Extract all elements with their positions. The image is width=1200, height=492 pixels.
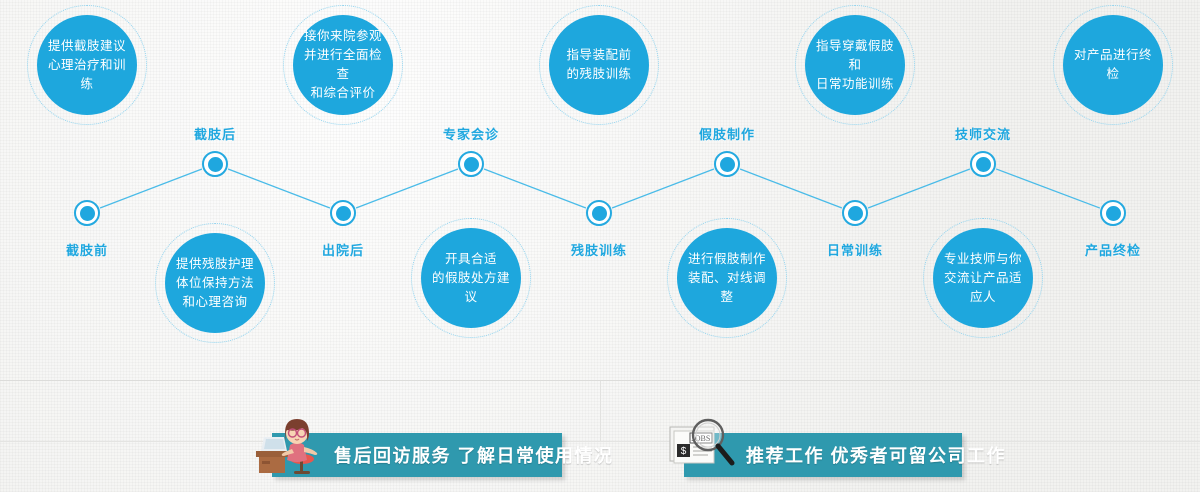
footer-banner-text: 售后回访服务 了解日常使用情况: [334, 442, 614, 468]
flow-node-3[interactable]: [330, 200, 356, 226]
flow-node-label: 专家会诊: [443, 124, 499, 143]
flow-node-1[interactable]: [74, 200, 100, 226]
info-bubble-line: 体位保持方法: [176, 274, 254, 293]
info-bubble-line: 的残肢训练: [566, 65, 631, 84]
flow-node-8[interactable]: [970, 151, 996, 177]
info-bubble-line: 提供截肢建议: [43, 37, 131, 56]
flow-node-label: 技师交流: [955, 124, 1011, 143]
info-bubble-line: 和综合评价: [299, 84, 387, 103]
info-bubble-line: 进行假肢制作: [683, 250, 771, 269]
process-flow-diagram: 提供截肢建议心理治疗和训练提供残肢护理体位保持方法和心理咨询接你来院参观并进行全…: [0, 0, 1200, 380]
flow-node-label: 产品终检: [1085, 240, 1141, 259]
info-bubble-line: 日常功能训练: [811, 75, 899, 94]
footer-banner-text: 推荐工作 优秀者可留公司工作: [746, 442, 1006, 468]
info-bubble-4[interactable]: 开具合适的假肢处方建议: [411, 218, 531, 338]
connector-line: [612, 169, 714, 208]
info-bubble-text: 对产品进行终检: [1063, 15, 1163, 115]
info-bubble-line: 开具合适: [427, 250, 515, 269]
svg-text:$: $: [681, 446, 687, 457]
info-bubble-text: 提供残肢护理体位保持方法和心理咨询: [165, 233, 265, 333]
info-bubble-3[interactable]: 接你来院参观并进行全面检查和综合评价: [283, 5, 403, 125]
footer-banner-2[interactable]: JOBS $ 推荐工作 优秀者可留公司工作: [684, 433, 962, 477]
info-bubble-text: 接你来院参观并进行全面检查和综合评价: [293, 15, 393, 115]
flow-node-label: 截肢前: [66, 240, 108, 259]
info-bubble-text: 提供截肢建议心理治疗和训练: [37, 15, 137, 115]
woman-at-desk-icon: [254, 411, 328, 477]
flow-node-9[interactable]: [1100, 200, 1126, 226]
connector-line: [484, 169, 586, 208]
flow-node-label: 假肢制作: [699, 124, 755, 143]
flow-node-label: 截肢后: [194, 124, 236, 143]
info-bubble-1[interactable]: 提供截肢建议心理治疗和训练: [27, 5, 147, 125]
info-bubble-text: 开具合适的假肢处方建议: [421, 228, 521, 328]
info-bubble-line: 指导穿戴假肢和: [811, 37, 899, 75]
connector-line: [868, 169, 970, 208]
section-divider-vertical: [600, 381, 601, 441]
info-bubble-5[interactable]: 指导装配前的残肢训练: [539, 5, 659, 125]
info-bubble-text: 指导装配前的残肢训练: [549, 15, 649, 115]
info-bubble-line: 指导装配前: [566, 46, 631, 65]
flow-node-label: 残肢训练: [571, 240, 627, 259]
flow-node-6[interactable]: [714, 151, 740, 177]
flow-node-5[interactable]: [586, 200, 612, 226]
info-bubble-text: 专业技师与你交流让产品适应人: [933, 228, 1033, 328]
flow-page: 提供截肢建议心理治疗和训练提供残肢护理体位保持方法和心理咨询接你来院参观并进行全…: [0, 0, 1200, 492]
flow-node-label: 日常训练: [827, 240, 883, 259]
info-bubble-6[interactable]: 进行假肢制作装配、对线调整: [667, 218, 787, 338]
info-bubble-line: 心理治疗和训练: [43, 56, 131, 94]
info-bubble-7[interactable]: 指导穿戴假肢和日常功能训练: [795, 5, 915, 125]
info-bubble-line: 接你来院参观: [299, 27, 387, 46]
connector-line: [100, 169, 202, 208]
connector-line: [740, 169, 842, 208]
info-bubble-line: 并进行全面检查: [299, 46, 387, 84]
info-bubble-line: 专业技师与你: [939, 250, 1027, 269]
flow-node-label: 出院后: [322, 240, 364, 259]
info-bubble-line: 交流让产品适应人: [939, 269, 1027, 307]
info-bubble-text: 进行假肢制作装配、对线调整: [677, 228, 777, 328]
flow-node-2[interactable]: [202, 151, 228, 177]
info-bubble-8[interactable]: 专业技师与你交流让产品适应人: [923, 218, 1043, 338]
info-bubble-9[interactable]: 对产品进行终检: [1053, 5, 1173, 125]
info-bubble-line: 对产品进行终检: [1069, 46, 1157, 84]
info-bubble-text: 指导穿戴假肢和日常功能训练: [805, 15, 905, 115]
info-bubble-line: 的假肢处方建议: [427, 269, 515, 307]
info-bubble-line: 提供残肢护理: [176, 255, 254, 274]
footer-banner-1[interactable]: 售后回访服务 了解日常使用情况: [272, 433, 562, 477]
connector-line: [228, 169, 330, 208]
info-bubble-line: 和心理咨询: [176, 293, 254, 312]
jobs-magnifier-icon: JOBS $: [666, 411, 740, 477]
flow-node-4[interactable]: [458, 151, 484, 177]
flow-node-7[interactable]: [842, 200, 868, 226]
connector-line: [356, 169, 458, 208]
info-bubble-line: 装配、对线调整: [683, 269, 771, 307]
info-bubble-2[interactable]: 提供残肢护理体位保持方法和心理咨询: [155, 223, 275, 343]
connector-line: [996, 169, 1100, 208]
